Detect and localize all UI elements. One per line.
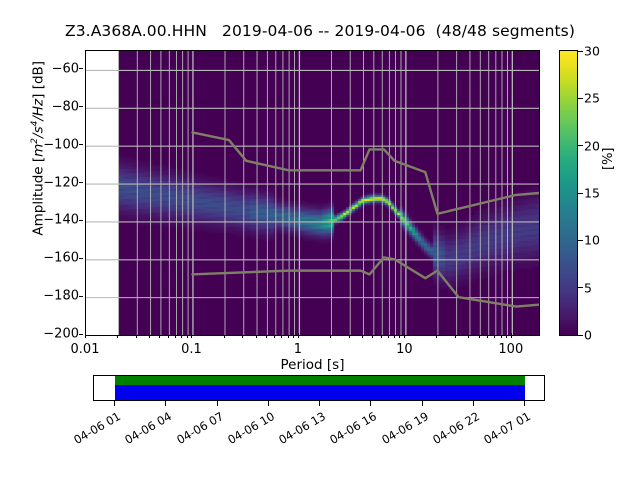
timeline-tick-mark [473,401,474,406]
x-axis-label: Period [s] [85,357,540,373]
x-tick-mark [436,335,437,338]
x-tick-mark [149,335,150,338]
x-tick-mark [394,335,395,338]
x-tick-mark [399,335,400,338]
x-tick-mark [487,335,488,338]
x-tick-label: 1 [294,342,302,357]
y-tick-label: −80 [52,99,79,114]
colorbar-label: [%] [601,110,616,170]
timeline-tick-mark [524,401,525,406]
colorbar-tick-mark [578,98,583,99]
y-tick-mark [79,296,83,297]
x-tick-label: 0.01 [71,342,100,357]
x-tick-mark [266,335,267,338]
colorbar [559,50,578,336]
x-tick-mark [455,335,456,338]
y-tick-label: −120 [43,175,79,190]
timeline-tick-mark [217,401,218,406]
y-tick-mark [79,182,83,183]
x-tick-mark [159,335,160,338]
timeline-tick-label: 04-06 01 [68,409,123,449]
x-tick-mark [511,333,512,338]
y-tick-mark [79,258,83,259]
x-tick-mark [293,335,294,338]
ppsd-plot-area [86,51,539,335]
timeline-tick-label: 04-06 13 [273,409,328,449]
x-tick-mark [274,335,275,338]
timeline-tick-mark [319,401,320,406]
y-tick-label: −180 [43,289,79,304]
timeline-tick-label: 04-06 22 [426,409,481,449]
y-tick-mark [79,106,83,107]
x-tick-mark [468,335,469,338]
x-tick-mark [187,335,188,338]
timeline-tick-label: 04-06 04 [119,409,174,449]
timeline-tick-mark [422,401,423,406]
timeline-tick-labels: 04-06 0104-06 0404-06 0704-06 1004-06 13… [93,401,545,411]
timeline-data-bar [115,385,525,400]
x-tick-mark [117,335,118,338]
x-tick-mark [281,335,282,338]
x-tick-mark [181,335,182,338]
x-tick-mark [501,335,502,338]
ppsd-plot-axes [85,50,540,336]
y-tick-label: −60 [52,61,79,76]
timeline-tick-label: 04-06 19 [375,409,430,449]
x-tick-mark [85,333,86,338]
timeline-axes [93,375,545,401]
colorbar-tick-mark [578,145,583,146]
colorbar-tick-mark [578,240,583,241]
x-tick-mark [298,333,299,338]
colorbar-ticks: 051015202530 [578,50,618,336]
x-tick-mark [381,335,382,338]
x-tick-label: 0.1 [181,342,202,357]
colorbar-tick-label: 15 [584,186,600,201]
x-tick-label: 100 [498,342,523,357]
timeline-tick-mark [114,401,115,406]
x-tick-mark [330,335,331,338]
timeline-tick-label: 04-07 01 [478,409,533,449]
timeline-tick-label: 04-06 16 [324,409,379,449]
colorbar-tick-mark [578,193,583,194]
x-tick-mark [349,335,350,338]
timeline-psd-bar [115,376,525,385]
y-tick-mark [79,144,83,145]
x-tick-mark [168,335,169,338]
x-tick-mark [404,333,405,338]
colorbar-tick-label: 25 [584,91,600,106]
colorbar-tick-label: 30 [584,44,600,59]
y-tick-label: −140 [43,213,79,228]
x-tick-mark [506,335,507,338]
x-tick-marks [85,332,538,338]
ppsd-figure: Z3.A368A.00.HHN 2019-04-06 -- 2019-04-06… [0,0,640,480]
timeline-tick-mark [268,401,269,406]
colorbar-tick-label: 5 [584,280,592,295]
colorbar-tick-label: 10 [584,233,600,248]
colorbar-tick-label: 0 [584,328,592,343]
y-tick-label: −100 [43,137,79,152]
colorbar-tick-mark [578,51,583,52]
timeline-tick-mark [165,401,166,406]
x-tick-mark [362,335,363,338]
x-tick-mark [242,335,243,338]
y-axis-ticks: −60−80−100−120−140−160−180−200 [0,50,79,336]
x-tick-mark [256,335,257,338]
colorbar-tick-mark [578,335,583,336]
timeline-tick-label: 04-06 10 [221,409,276,449]
x-tick-mark [175,335,176,338]
timeline-tick-label: 04-06 07 [170,409,225,449]
y-tick-mark [79,334,83,335]
x-tick-mark [479,335,480,338]
x-tick-mark [494,335,495,338]
x-tick-mark [224,335,225,338]
y-tick-mark [79,68,83,69]
x-tick-mark [372,335,373,338]
colorbar-gradient [560,51,577,335]
y-tick-label: −200 [43,327,79,342]
colorbar-tick-mark [578,287,583,288]
y-tick-label: −160 [43,251,79,266]
y-tick-mark [79,220,83,221]
x-tick-mark [136,335,137,338]
colorbar-tick-label: 20 [584,138,600,153]
page-title: Z3.A368A.00.HHN 2019-04-06 -- 2019-04-06… [0,22,640,40]
plot-gridlines-and-curves [86,51,539,335]
x-tick-label: 10 [396,342,413,357]
x-tick-mark [191,333,192,338]
timeline-tick-mark [370,401,371,406]
x-tick-mark [388,335,389,338]
x-tick-mark [288,335,289,338]
